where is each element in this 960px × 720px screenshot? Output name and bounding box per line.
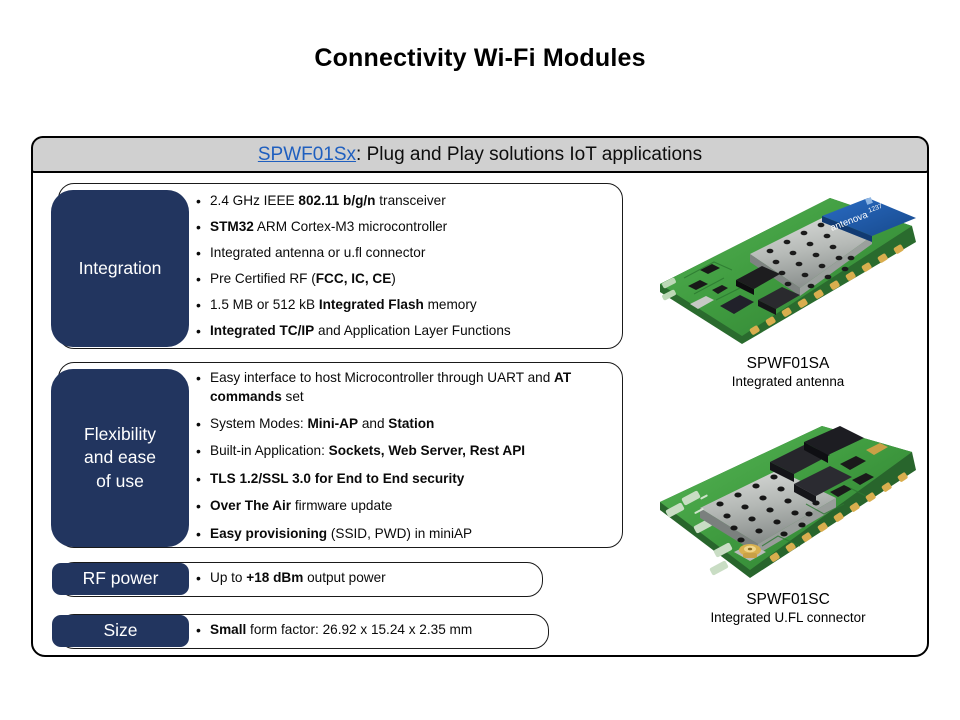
bullet-item: •TLS 1.2/SSL 3.0 for End to End security [196, 470, 616, 489]
bullet-list-flexibility: •Easy interface to host Microcontroller … [196, 369, 616, 552]
bullet-text-run: output power [303, 570, 385, 585]
bullet-dot-icon: • [196, 270, 210, 289]
bullet-text-emphasis: 802.11 b/g/n [298, 193, 375, 208]
bullet-text-run: (SSID, PWD) in miniAP [327, 526, 472, 541]
bullet-text: System Modes: Mini-AP and Station [210, 415, 616, 434]
bullet-text-run: 2.4 GHz IEEE [210, 193, 298, 208]
bullet-item: •Integrated TC/IP and Application Layer … [196, 322, 616, 341]
caption-spwf01sc: SPWF01SC Integrated U.FL connector [654, 590, 922, 627]
bullet-text-run: Integrated antenna or u.fl connector [210, 245, 425, 260]
bullet-text: Easy provisioning (SSID, PWD) in miniAP [210, 525, 616, 544]
bullet-text-run: 1.5 MB or 512 kB [210, 297, 319, 312]
bullet-list-size: •Small form factor: 26.92 x 15.24 x 2.35… [196, 621, 546, 640]
bullet-item: •Up to +18 dBm output power [196, 569, 536, 588]
label-line: and ease [84, 446, 156, 470]
bullet-text-emphasis: Over The Air [210, 498, 291, 513]
bullet-text-run: and Application Layer Functions [314, 323, 510, 338]
bullet-text-emphasis: Sockets, Web Server, Rest API [329, 443, 525, 458]
bullet-item: •STM32 ARM Cortex-M3 microcontroller [196, 218, 616, 237]
bullet-text-emphasis: TLS 1.2/SSL 3.0 for End to End security [210, 471, 464, 486]
label-line: Integration [79, 257, 162, 281]
bullet-dot-icon: • [196, 322, 210, 341]
product-family-link[interactable]: SPWF01Sx [258, 144, 356, 165]
bullet-item: •Built-in Application: Sockets, Web Serv… [196, 442, 616, 461]
bullet-text-run: memory [424, 297, 477, 312]
bullet-text: 1.5 MB or 512 kB Integrated Flash memory [210, 296, 616, 315]
bullet-dot-icon: • [196, 525, 210, 544]
bullet-text-run: set [282, 389, 304, 404]
caption-spwf01sc-name: SPWF01SC [654, 590, 922, 609]
bullet-text-emphasis: Integrated TC/IP [210, 323, 314, 338]
bullet-text-emphasis: Easy provisioning [210, 526, 327, 541]
category-label-size: Size [52, 615, 189, 647]
bullet-list-integration: •2.4 GHz IEEE 802.11 b/g/n transceiver•S… [196, 192, 616, 348]
category-label-rf-power-text: RF power [83, 567, 159, 591]
category-label-integration-text: Integration [79, 257, 162, 281]
bullet-item: •Easy interface to host Microcontroller … [196, 369, 616, 407]
caption-spwf01sc-sub: Integrated U.FL connector [654, 609, 922, 626]
caption-spwf01sa-sub: Integrated antenna [654, 373, 922, 390]
bullet-item: •System Modes: Mini-AP and Station [196, 415, 616, 434]
caption-spwf01sa: SPWF01SA Integrated antenna [654, 354, 922, 391]
bullet-text-run: Easy interface to host Microcontroller t… [210, 370, 554, 385]
bullet-item: •Small form factor: 26.92 x 15.24 x 2.35… [196, 621, 546, 640]
category-label-size-text: Size [103, 619, 137, 643]
bullet-text-run: Up to [210, 570, 246, 585]
section-header-band: SPWF01Sx: Plug and Play solutions IoT ap… [31, 136, 929, 173]
bullet-text-run: ARM Cortex-M3 microcontroller [254, 219, 447, 234]
bullet-dot-icon: • [196, 415, 210, 434]
section-header-text: SPWF01Sx: Plug and Play solutions IoT ap… [258, 144, 702, 166]
bullet-item: •Over The Air firmware update [196, 497, 616, 516]
label-line: RF power [83, 567, 159, 591]
bullet-text-emphasis: Integrated Flash [319, 297, 424, 312]
label-line: Flexibility [84, 423, 156, 447]
bullet-text: Up to +18 dBm output power [210, 569, 536, 588]
bullet-text-emphasis: FCC, IC, CE [316, 271, 392, 286]
bullet-text-run: form factor: 26.92 x 15.24 x 2.35 mm [246, 622, 472, 637]
bullet-text-run: and [358, 416, 388, 431]
bullet-dot-icon: • [196, 296, 210, 315]
bullet-text-run: firmware update [291, 498, 392, 513]
spwf01sc-illustration [654, 422, 922, 590]
bullet-dot-icon: • [196, 369, 210, 388]
module-photo-spwf01sa: antenova 1237 [654, 192, 922, 350]
bullet-item: •1.5 MB or 512 kB Integrated Flash memor… [196, 296, 616, 315]
slide-canvas: Connectivity Wi-Fi Modules SPWF01Sx: Plu… [0, 0, 960, 720]
bullet-text: Integrated antenna or u.fl connector [210, 244, 616, 263]
category-label-rf-power: RF power [52, 563, 189, 595]
label-line: of use [84, 470, 156, 494]
bullet-text: STM32 ARM Cortex-M3 microcontroller [210, 218, 616, 237]
bullet-dot-icon: • [196, 218, 210, 237]
bullet-text-emphasis: +18 dBm [246, 570, 303, 585]
bullet-text-emphasis: Station [388, 416, 434, 431]
bullet-text: TLS 1.2/SSL 3.0 for End to End security [210, 470, 616, 489]
label-line: Size [103, 619, 137, 643]
spwf01sa-illustration: antenova 1237 [654, 192, 922, 350]
bullet-text: Integrated TC/IP and Application Layer F… [210, 322, 616, 341]
bullet-dot-icon: • [196, 470, 210, 489]
module-photo-spwf01sc [654, 422, 922, 590]
bullet-text-emphasis: STM32 [210, 219, 254, 234]
bullet-dot-icon: • [196, 244, 210, 263]
bullet-text-emphasis: Mini-AP [307, 416, 358, 431]
bullet-dot-icon: • [196, 569, 210, 588]
bullet-text-run: Pre Certified RF ( [210, 271, 316, 286]
bullet-text: 2.4 GHz IEEE 802.11 b/g/n transceiver [210, 192, 616, 211]
caption-spwf01sa-name: SPWF01SA [654, 354, 922, 373]
bullet-text-run: Built-in Application: [210, 443, 329, 458]
bullet-dot-icon: • [196, 442, 210, 461]
bullet-dot-icon: • [196, 192, 210, 211]
bullet-dot-icon: • [196, 497, 210, 516]
bullet-text: Pre Certified RF (FCC, IC, CE) [210, 270, 616, 289]
page-title: Connectivity Wi-Fi Modules [0, 44, 960, 73]
bullet-dot-icon: • [196, 621, 210, 640]
bullet-text: Built-in Application: Sockets, Web Serve… [210, 442, 616, 461]
bullet-item: •Easy provisioning (SSID, PWD) in miniAP [196, 525, 616, 544]
bullet-text-run: ) [391, 271, 396, 286]
bullet-item: •2.4 GHz IEEE 802.11 b/g/n transceiver [196, 192, 616, 211]
bullet-list-rf-power: •Up to +18 dBm output power [196, 569, 536, 588]
bullet-text: Over The Air firmware update [210, 497, 616, 516]
category-label-integration: Integration [51, 190, 189, 347]
section-header-rest: : Plug and Play solutions IoT applicatio… [356, 144, 702, 165]
bullet-text-run: System Modes: [210, 416, 307, 431]
bullet-text: Easy interface to host Microcontroller t… [210, 369, 616, 407]
bullet-item: •Pre Certified RF (FCC, IC, CE) [196, 270, 616, 289]
bullet-text: Small form factor: 26.92 x 15.24 x 2.35 … [210, 621, 546, 640]
category-label-flexibility-text: Flexibilityand easeof use [84, 423, 156, 494]
bullet-item: •Integrated antenna or u.fl connector [196, 244, 616, 263]
bullet-text-emphasis: Small [210, 622, 246, 637]
category-label-flexibility: Flexibilityand easeof use [51, 369, 189, 547]
bullet-text-run: transceiver [375, 193, 445, 208]
